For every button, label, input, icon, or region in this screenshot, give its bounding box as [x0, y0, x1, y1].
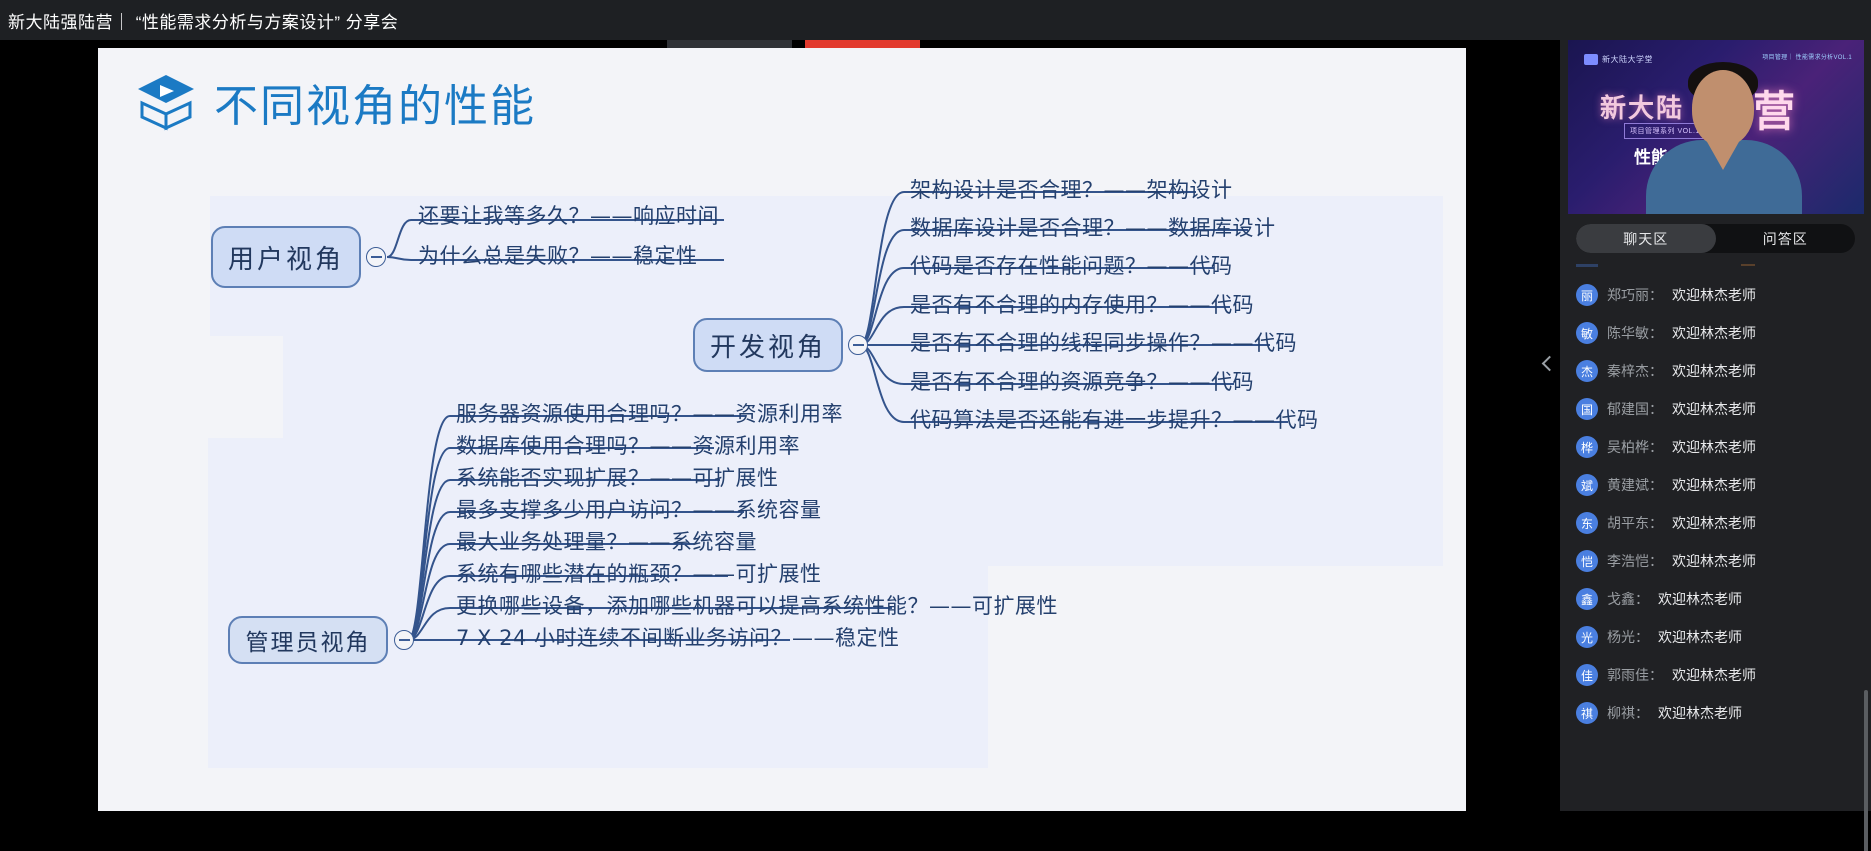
leaf-dev-3: 是否有不合理的内存使用？——代码: [910, 289, 1254, 319]
panel-collapse-handle[interactable]: [1538, 40, 1560, 811]
chat-username: 郁建国：: [1607, 399, 1663, 419]
mindmap-node-admin-perspective[interactable]: 管理员视角: [228, 616, 388, 664]
leaf-user-0: 还要让我等多久？——响应时间: [418, 200, 719, 230]
avatar: 光: [1576, 626, 1598, 648]
chat-text: 欢迎林杰老师: [1672, 437, 1756, 457]
chat-text: 欢迎林杰老师: [1672, 665, 1756, 685]
chat-username: 李浩恺：: [1607, 551, 1663, 571]
chat-message-partial: [1576, 260, 1836, 270]
window-title: 新大陆强陆营｜ “性能需求分析与方案设计” 分享会: [8, 8, 398, 33]
avatar: 佳: [1576, 664, 1598, 686]
presentation-stage: 不同视角的性能: [0, 40, 1560, 811]
avatar: 桦: [1576, 436, 1598, 458]
browser-tab-stub-right: [805, 40, 920, 48]
chat-message: 斌 黄建斌： 欢迎林杰老师: [1576, 472, 1756, 498]
presenter-video[interactable]: 新大陆大学堂 项目管理｜ 性能需求分析VOL.1 新大陆 营 项目管理系列 VO…: [1568, 40, 1864, 214]
brand-logo-text: 新大陆大学堂: [1602, 54, 1653, 65]
tab-qa[interactable]: 问答区: [1716, 224, 1856, 253]
slide-header: 不同视角的性能: [136, 70, 536, 134]
chat-username: 秦梓杰：: [1607, 361, 1663, 381]
chat-message: 丽 郑巧丽： 欢迎林杰老师: [1576, 282, 1756, 308]
chat-message: 恺 李浩恺： 欢迎林杰老师: [1576, 548, 1756, 574]
avatar: 东: [1576, 512, 1598, 534]
leaf-dev-5: 是否有不合理的资源竞争？——代码: [910, 366, 1254, 396]
chat-text: 欢迎林杰老师: [1672, 285, 1756, 305]
chat-message: 佳 郭雨佳： 欢迎林杰老师: [1576, 662, 1756, 688]
leaf-admin-7: 7 X 24 小时连续不间断业务访问？——稳定性: [456, 622, 900, 652]
avatar: 斌: [1576, 474, 1598, 496]
chat-username: 陈华敏：: [1607, 323, 1663, 343]
partial-line-a: [1576, 264, 1598, 267]
partial-line-b: [1741, 264, 1755, 266]
chat-text: 欢迎林杰老师: [1672, 513, 1756, 533]
chat-text: 欢迎林杰老师: [1658, 589, 1742, 609]
chat-message: 祺 柳祺： 欢迎林杰老师: [1576, 700, 1742, 726]
chat-username: 胡平东：: [1607, 513, 1663, 533]
chat-message: 国 郁建国： 欢迎林杰老师: [1576, 396, 1756, 422]
leaf-dev-0: 架构设计是否合理？——架构设计: [910, 174, 1233, 204]
mindmap-node-dev-perspective[interactable]: 开发视角: [693, 318, 843, 372]
leaf-dev-4: 是否有不合理的线程同步操作？——代码: [910, 327, 1297, 357]
chat-text: 欢迎林杰老师: [1672, 361, 1756, 381]
chat-text: 欢迎林杰老师: [1672, 399, 1756, 419]
chat-text: 欢迎林杰老师: [1672, 475, 1756, 495]
chat-username: 黄建斌：: [1607, 475, 1663, 495]
video-bg-text-left: 新大陆: [1600, 88, 1684, 125]
chat-message: 鑫 戈鑫： 欢迎林杰老师: [1576, 586, 1742, 612]
browser-tab-stub-left: [667, 40, 792, 48]
brand-mark-icon: [1584, 54, 1598, 65]
chat-text: 欢迎林杰老师: [1658, 627, 1742, 647]
leaf-dev-6: 代码算法是否还能有进一步提升？——代码: [910, 404, 1319, 434]
avatar: 杰: [1576, 360, 1598, 382]
avatar: 丽: [1576, 284, 1598, 306]
chat-username: 郭雨佳：: [1607, 665, 1663, 685]
mindmap-node-user-perspective[interactable]: 用户视角: [211, 226, 361, 288]
leaf-admin-0: 服务器资源使用合理吗？——资源利用率: [456, 398, 843, 428]
chat-text: 欢迎林杰老师: [1672, 551, 1756, 571]
chevron-left-icon: [1542, 356, 1558, 372]
chat-text: 欢迎林杰老师: [1672, 323, 1756, 343]
slide-canvas: 不同视角的性能: [98, 48, 1466, 811]
chat-message: 桦 吴柏桦： 欢迎林杰老师: [1576, 434, 1756, 460]
video-brand-logo: 新大陆大学堂: [1584, 54, 1653, 65]
right-sidebar: 新大陆大学堂 项目管理｜ 性能需求分析VOL.1 新大陆 营 项目管理系列 VO…: [1560, 40, 1871, 811]
avatar: 恺: [1576, 550, 1598, 572]
leaf-admin-6: 更换哪些设备，添加哪些机器可以提高系统性能？——可扩展性: [456, 590, 1058, 620]
window-title-bar: 新大陆强陆营｜ “性能需求分析与方案设计” 分享会: [0, 0, 1871, 40]
leaf-admin-4: 最大业务处理量？——系统容量: [456, 526, 757, 556]
video-bg-text-right: 营: [1753, 78, 1795, 139]
chat-tab-bar: 聊天区 问答区: [1576, 224, 1855, 253]
page-title: 不同视角的性能: [214, 70, 536, 134]
leaf-dev-1: 数据库设计是否合理？——数据库设计: [910, 212, 1276, 242]
tab-chat[interactable]: 聊天区: [1576, 224, 1716, 253]
avatar: 国: [1576, 398, 1598, 420]
leaf-admin-1: 数据库使用合理吗？——资源利用率: [456, 430, 800, 460]
chat-message: 敏 陈华敏： 欢迎林杰老师: [1576, 320, 1756, 346]
avatar: 敏: [1576, 322, 1598, 344]
chat-username: 杨光：: [1607, 627, 1649, 647]
chat-message-list[interactable]: 丽 郑巧丽： 欢迎林杰老师 敏 陈华敏： 欢迎林杰老师 杰 秦梓杰： 欢迎林杰老…: [1560, 260, 1871, 851]
chat-message: 东 胡平东： 欢迎林杰老师: [1576, 510, 1756, 536]
mindmap: 用户视角 还要让我等多久？——响应时间 为什么总是失败？——稳定性 开发视角 架…: [98, 148, 1466, 808]
book-play-icon: [136, 73, 196, 131]
collapse-toggle-user[interactable]: [366, 247, 386, 267]
chat-text: 欢迎林杰老师: [1658, 703, 1742, 723]
leaf-user-1: 为什么总是失败？——稳定性: [418, 240, 698, 270]
collapse-toggle-admin[interactable]: [394, 630, 414, 650]
chat-username: 戈鑫：: [1607, 589, 1649, 609]
leaf-admin-5: 系统有哪些潜在的瓶颈？——可扩展性: [456, 558, 822, 588]
chat-username: 吴柏桦：: [1607, 437, 1663, 457]
chat-message: 光 杨光： 欢迎林杰老师: [1576, 624, 1742, 650]
avatar: 祺: [1576, 702, 1598, 724]
chat-username: 郑巧丽：: [1607, 285, 1663, 305]
chat-username: 柳祺：: [1607, 703, 1649, 723]
video-corner-text: 项目管理｜ 性能需求分析VOL.1: [1762, 52, 1852, 61]
presenter-head: [1692, 70, 1754, 146]
leaf-admin-3: 最多支撑多少用户访问？——系统容量: [456, 494, 822, 524]
avatar: 鑫: [1576, 588, 1598, 610]
leaf-dev-2: 代码是否存在性能问题？——代码: [910, 250, 1233, 280]
collapse-toggle-dev[interactable]: [848, 335, 868, 355]
chat-scrollbar[interactable]: [1864, 690, 1868, 851]
chat-message: 杰 秦梓杰： 欢迎林杰老师: [1576, 358, 1756, 384]
leaf-admin-2: 系统能否实现扩展？——可扩展性: [456, 462, 779, 492]
